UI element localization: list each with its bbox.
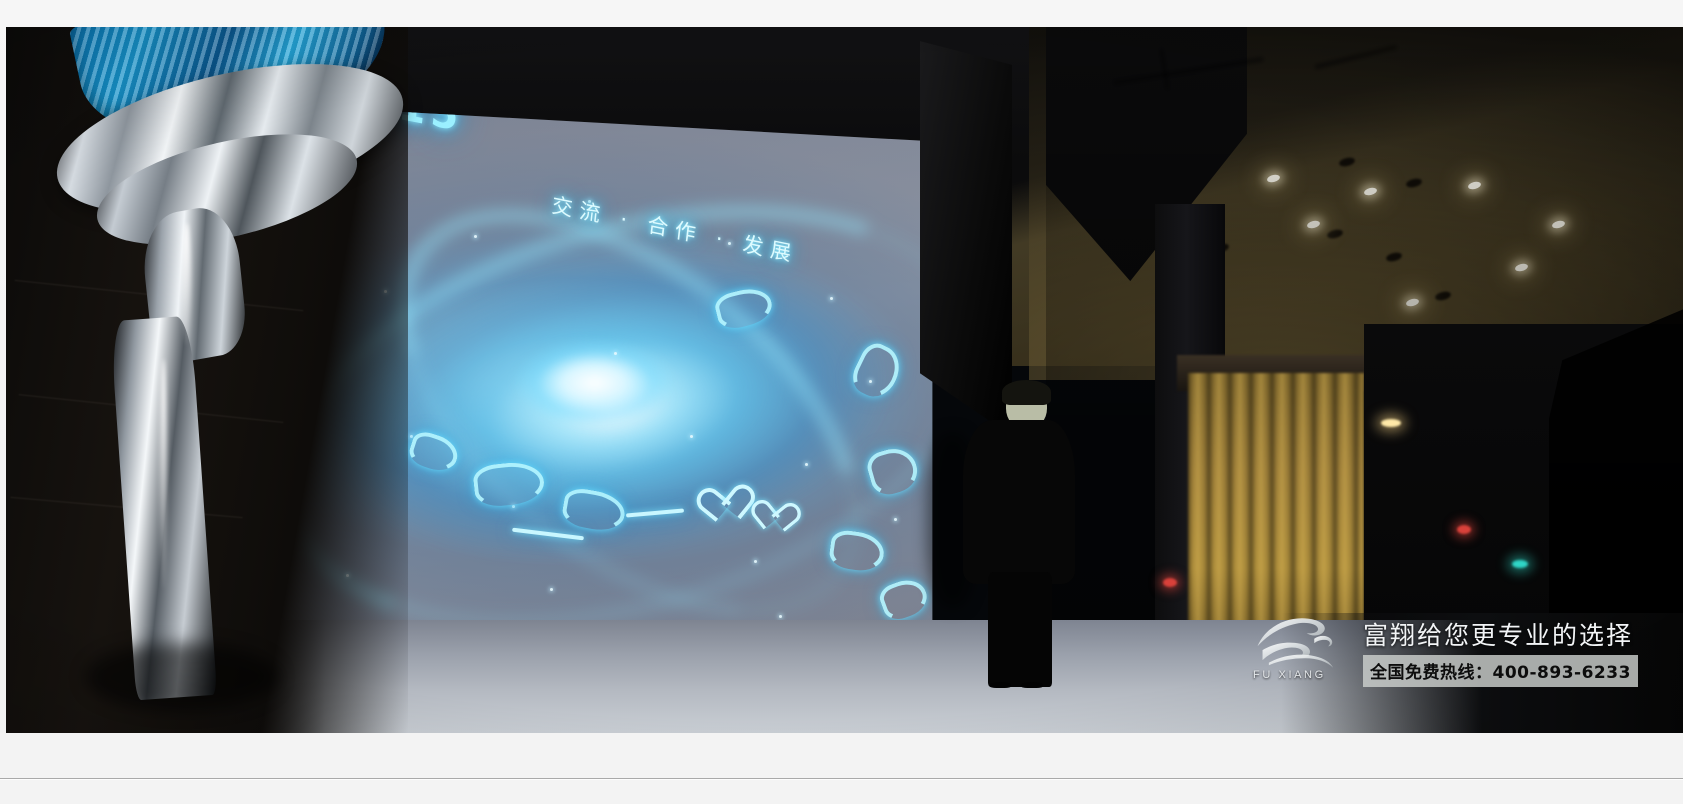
footer-divider xyxy=(0,778,1683,780)
presenter-shoe xyxy=(990,682,1012,688)
trophy-vase xyxy=(50,27,419,698)
page-root: 2015 交流 · 合作 · 发展 xyxy=(0,0,1683,804)
gallery-photo[interactable]: 2015 交流 · 合作 · 发展 xyxy=(6,27,1683,733)
neon-heart xyxy=(695,489,732,522)
indicator-light-teal xyxy=(1512,560,1528,568)
indicator-light-amber xyxy=(1381,419,1401,427)
page-top-band xyxy=(0,0,1683,27)
presenter-figure xyxy=(955,384,1082,688)
vase-base-shadow xyxy=(86,643,278,711)
photo-canvas: 2015 交流 · 合作 · 发展 xyxy=(6,27,1683,733)
presenter-hair xyxy=(1002,380,1050,404)
page-bottom-area xyxy=(0,733,1683,804)
presenter-shoe xyxy=(1021,682,1043,688)
presenter-legs xyxy=(988,572,1052,687)
neon-heart xyxy=(749,502,780,530)
screen-right-edge xyxy=(920,41,1012,436)
presenter-torso xyxy=(963,420,1075,584)
floor-shadow-right xyxy=(1281,613,1683,733)
indicator-light-red xyxy=(1163,578,1177,587)
indicator-light-red xyxy=(1457,525,1471,534)
